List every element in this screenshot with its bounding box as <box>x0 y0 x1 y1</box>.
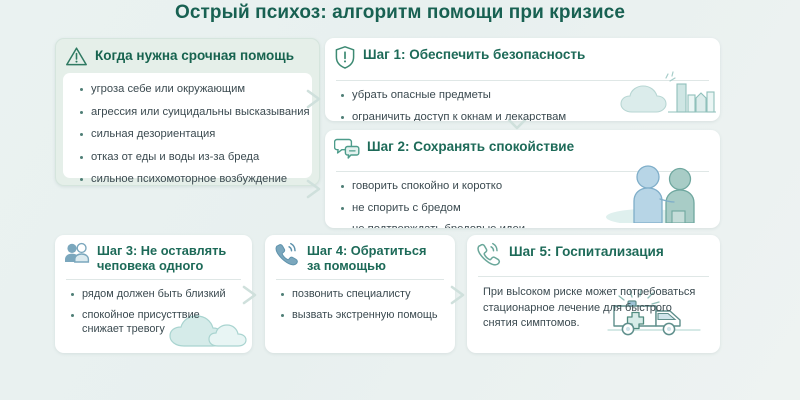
list-item: убрать опасные предметы <box>341 88 708 103</box>
step-1-title: Шаг 1: Обеспечить безопасность <box>363 45 585 63</box>
step-3-title-line2: чеповека одного <box>97 258 203 273</box>
list-item: отказ от еды и воды из-за бреда <box>80 150 302 165</box>
step-1-header: Шаг 1: Обеспечить безопасность <box>325 38 720 80</box>
list-item: вызвать экстренную помощь <box>281 308 443 322</box>
list-item: позвонить специалисту <box>281 287 443 301</box>
step-2-title: Шаг 2: Сохранять спокойствие <box>367 137 574 155</box>
step-4-title-line2: за помощью <box>307 258 386 273</box>
warning-triangle-icon <box>65 46 88 72</box>
alert-card-title: Когда нужна срочная помощь <box>95 46 294 64</box>
list-item: не спорить с бредом <box>341 201 708 216</box>
list-item: рядом должен быть близкий <box>71 287 240 301</box>
alert-card-body: угроза себе или окружающим агрессия или … <box>63 73 312 178</box>
phone-signal-icon <box>476 242 502 271</box>
paragraph-line: стационарное лечение для быстрого <box>483 301 708 317</box>
list-item: агрессия или суицидальны высказывания <box>80 105 302 120</box>
alert-item-list: угроза себе или окружающим агрессия или … <box>63 73 312 186</box>
list-item: ограничить доступ к окнам и лекарствам <box>341 110 708 121</box>
step-2-item-list: говорить спокойно и коротко не спорить с… <box>325 172 720 228</box>
step-3-title-line1: Шаг 3: Не оставлять <box>97 243 226 258</box>
step-3-header: Шаг 3: Не оставлять чеповека одного <box>55 235 252 279</box>
step-3-title: Шаг 3: Не оставлять чеповека одного <box>97 242 226 274</box>
list-item: говорить спокойно и коротко <box>341 179 708 194</box>
infographic-page: Острый психоз: алгоритм помощи при кризи… <box>0 0 800 400</box>
step-2-header: Шаг 2: Сохранять спокойствие <box>325 130 720 171</box>
alert-card: Когда нужна срочная помощь угроза себе и… <box>55 38 320 186</box>
step-5-header: Шаг 5: Госпитализация <box>467 235 720 276</box>
step-4-title: Шаг 4: Обратиться за помощью <box>307 242 426 274</box>
step-5-title: Шаг 5: Госпитализация <box>509 242 664 260</box>
list-item: сильная дезориентация <box>80 127 302 142</box>
phone-signal-icon <box>274 242 300 271</box>
paragraph-line: снятия симптомов. <box>483 316 708 332</box>
paragraph-line: При вьlcоком риске может потребоваться <box>483 285 708 301</box>
step-4-item-list: позвонить специалисту вызвать экстренную… <box>265 280 455 330</box>
shield-exclamation-icon <box>334 45 356 75</box>
step-4-card: Шаг 4: Обратиться за помощью позвонить с… <box>265 235 455 353</box>
step-4-header: Шаг 4: Обратиться за помощью <box>265 235 455 279</box>
step-5-card: Шаг 5: Госпитализация При вьlcоком риске… <box>467 235 720 353</box>
list-item: угроза себе или окружающим <box>80 82 302 97</box>
step-1-card: Шаг 1: Обеспечить безопасность убрать оп… <box>325 38 720 121</box>
step-1-item-list: убрать опасные предметы ограничить досту… <box>325 81 720 121</box>
page-title: Острый психоз: алгоритм помощи при кризи… <box>0 2 800 24</box>
speech-bubbles-icon <box>334 137 360 166</box>
list-item: не подтверждать бредовые идеи <box>341 222 708 228</box>
alert-card-header: Когда нужна срочная помощь <box>56 39 319 77</box>
step-3-item-list: рядом должен быть близкий спокойное прис… <box>55 280 252 345</box>
step-5-paragraph: При вьlcоком риске может потребоваться с… <box>467 277 720 340</box>
step-3-card: Шаг 3: Не оставлять чеповека одного рядо… <box>55 235 252 353</box>
two-persons-icon <box>64 242 90 270</box>
list-item: сильное психомоторное возбуждение <box>80 172 302 186</box>
step-4-title-line1: Шаг 4: Обратиться <box>307 243 426 258</box>
list-item: спокойное присусттвие снижает тревогу <box>71 308 240 336</box>
step-2-card: Шаг 2: Сохранять спокойствие говорить сп… <box>325 130 720 228</box>
